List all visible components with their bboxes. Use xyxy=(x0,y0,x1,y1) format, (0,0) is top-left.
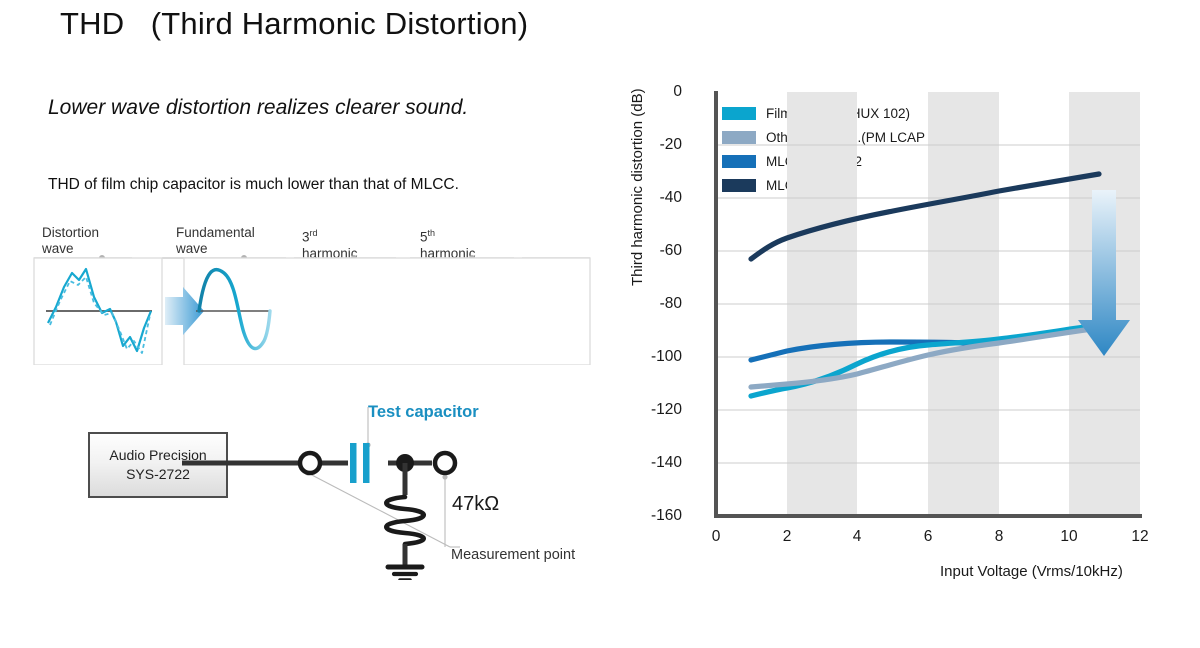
thd-chart: Third harmonic distortion (dB) Input Vol… xyxy=(630,78,1195,588)
ground-icon xyxy=(388,567,422,580)
resistor-icon xyxy=(386,497,424,544)
lead-paragraph: THD of film chip capacitor is much lower… xyxy=(48,176,459,194)
subtitle-text: Lower wave distortion realizes clearer s… xyxy=(48,96,468,120)
chart-plot-area xyxy=(630,78,1195,538)
callout-leaders xyxy=(308,407,460,547)
capacitor-plate-left xyxy=(350,443,357,483)
output-terminal-icon xyxy=(435,453,455,473)
input-terminal-icon xyxy=(300,453,320,473)
page-title: THD (Third Harmonic Distortion) xyxy=(60,6,528,42)
capacitor-plate-right xyxy=(363,443,370,483)
wave-decomposition-svg xyxy=(24,225,599,365)
test-circuit-diagram xyxy=(60,395,635,580)
circuit-svg xyxy=(60,395,635,580)
chart-x-axis-title: Input Voltage (Vrms/10kHz) xyxy=(940,563,1123,580)
wave-decomposition-diagram: Distortion wave Fundamental wave 3rd har… xyxy=(24,225,599,365)
